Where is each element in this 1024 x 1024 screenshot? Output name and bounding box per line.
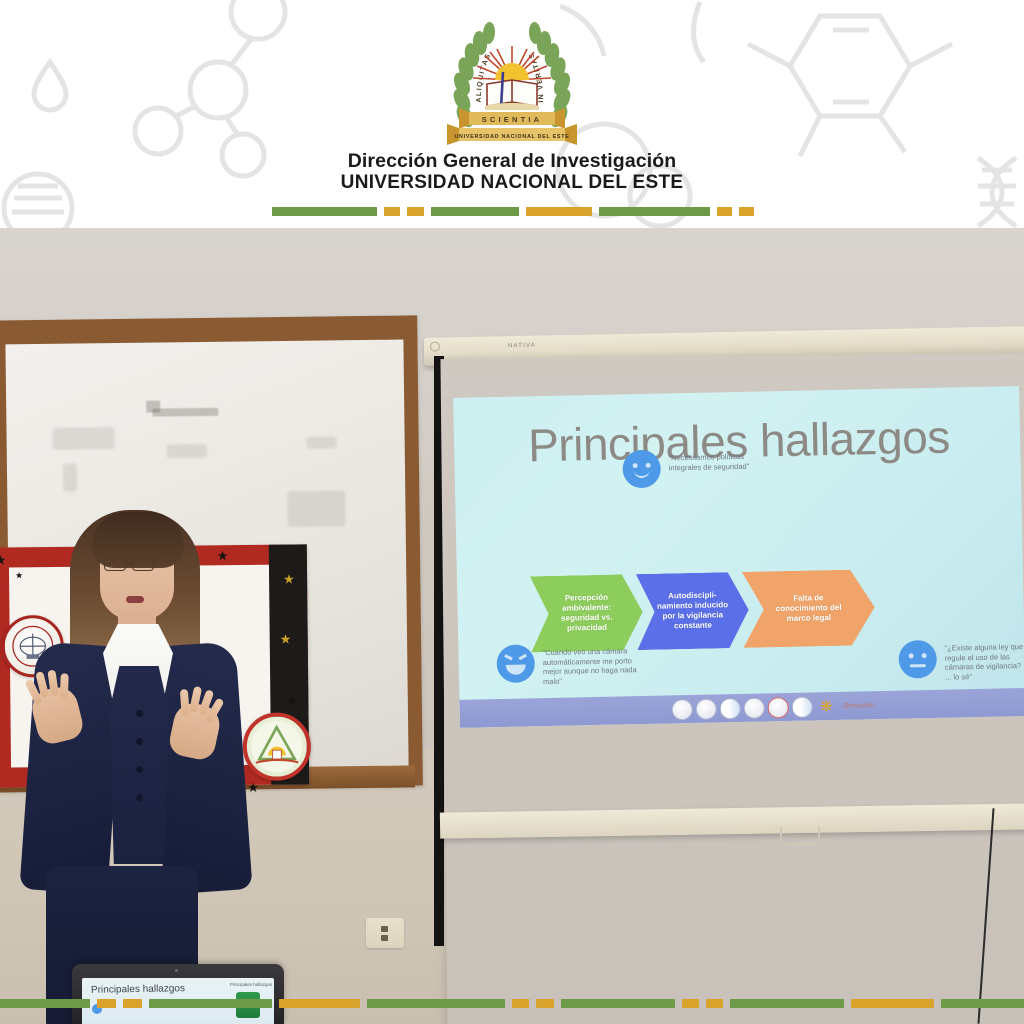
decorative-dash	[730, 999, 844, 1008]
decorative-dash	[526, 207, 592, 216]
slide-quote-bottom-right: "¿Existe alguna ley que regule el uso de…	[898, 638, 1024, 683]
decorative-dash	[512, 999, 529, 1008]
decorative-dash	[941, 999, 1024, 1008]
decorative-dash	[717, 207, 732, 216]
slide-quote-bottom-left-text: "Cuando veo una cámara automáticamente m…	[542, 642, 639, 686]
eyeglasses-bridge	[126, 563, 133, 565]
decorative-dash	[431, 207, 520, 216]
decorative-dash	[599, 207, 711, 216]
svg-text:UNIVERSIDAD NACIONAL DEL ESTE: UNIVERSIDAD NACIONAL DEL ESTE	[454, 134, 569, 140]
decorative-dash	[682, 999, 699, 1008]
housing-end-cap	[430, 341, 440, 351]
projector-screen-handle[interactable]	[780, 826, 820, 847]
decorative-dash	[561, 999, 675, 1008]
decorative-dash	[851, 999, 934, 1008]
slide-footer-text: Dirección	[844, 702, 875, 710]
projected-slide: Principales hallazgos "Necesitamos polít…	[453, 386, 1024, 728]
header-decorative-bar	[272, 207, 754, 216]
sponsor-leaf-logo-icon: ❋	[815, 696, 836, 717]
presenter-mouth	[126, 596, 144, 603]
decorative-dash	[706, 999, 723, 1008]
decorative-dash	[272, 207, 377, 216]
slide-quote-bottom-right-text: "¿Existe alguna ley que regule el uso de…	[944, 638, 1024, 682]
chevron-step-3: Falta de conocimiento del marco legal	[742, 569, 876, 648]
laughing-face-icon	[496, 644, 535, 683]
wall-power-outlet	[366, 918, 404, 948]
chevron-step-2: Autodiscipli-namiento inducido por la vi…	[636, 572, 750, 650]
slide-sponsor-logo-row: ❋ Dirección	[672, 695, 875, 720]
slide-quote-top-text: "Necesitamos políticas integrales de seg…	[668, 447, 764, 472]
presentation-photo-card: ALIQUITAS IN VERITAS	[0, 0, 1024, 1024]
header-title-primary: Dirección General de Investigación	[0, 150, 1024, 172]
chevron-step-1-label: Percepción ambivalente: seguridad vs. pr…	[549, 592, 624, 634]
decorative-dash	[0, 999, 90, 1008]
footer-decorative-bar	[0, 998, 1024, 1009]
decorative-dash	[739, 207, 754, 216]
sponsor-flag-logo-icon	[791, 696, 812, 717]
slide-footer-band: ❋ Dirección	[459, 688, 1024, 728]
sponsor-logo-icon	[672, 699, 693, 720]
decorative-dash	[384, 207, 400, 216]
slide-quote-top: "Necesitamos políticas integrales de seg…	[622, 447, 765, 488]
decorative-dash	[407, 207, 423, 216]
laptop-webcam-icon	[175, 969, 178, 972]
projection-screen: Principales hallazgos "Necesitamos polít…	[440, 353, 1024, 1024]
presenter	[0, 498, 250, 1024]
header-banner: ALIQUITAS IN VERITAS	[0, 0, 1024, 228]
event-photograph: ★ ★ ★ ★ ★ ★ ★ ★ ★ ★ ★ ★	[0, 228, 1024, 1024]
smiley-face-icon	[622, 450, 661, 489]
sponsor-logo-icon	[767, 697, 788, 718]
neutral-face-icon	[898, 640, 937, 679]
decorative-dash	[97, 999, 116, 1008]
sponsor-logo-icon	[696, 698, 717, 719]
decorative-dash	[123, 999, 142, 1008]
eyeglasses-icon	[104, 558, 126, 571]
decorative-dash	[149, 999, 272, 1008]
une-emblem-icon: ALIQUITAS IN VERITAS	[427, 8, 597, 148]
sponsor-logo-icon	[743, 697, 764, 718]
chevron-step-2-label: Autodiscipli-namiento inducido por la vi…	[655, 590, 730, 632]
header-title-block: Dirección General de Investigación UNIVE…	[0, 150, 1024, 194]
eyeglasses-icon	[132, 558, 154, 571]
header-title-secondary: UNIVERSIDAD NACIONAL DEL ESTE	[0, 172, 1024, 194]
projector-brand-label: NATIVA	[508, 343, 536, 350]
slide-quote-bottom-left: "Cuando veo una cámara automáticamente m…	[496, 642, 639, 687]
decorative-dash	[367, 999, 505, 1008]
laptop-thumbnail-title: Principales hallazgos	[230, 982, 272, 987]
decorative-dash	[536, 999, 553, 1008]
findings-chevron-row: Percepción ambivalente: seguridad vs. pr…	[530, 569, 870, 652]
presenter-vest	[104, 666, 174, 864]
une-seal-icon	[242, 712, 311, 781]
presenter-laptop: Principales hallazgos Principales hallaz…	[72, 964, 284, 1024]
decorative-dash	[279, 999, 360, 1008]
laptop-slide-title: Principales hallazgos	[91, 983, 185, 996]
chevron-step-3-label: Falta de conocimiento del marco legal	[771, 593, 846, 625]
sponsor-flag-logo-icon	[720, 698, 741, 719]
svg-text:SCIENTIA: SCIENTIA	[482, 115, 543, 124]
chevron-step-1: Percepción ambivalente: seguridad vs. pr…	[530, 574, 644, 652]
